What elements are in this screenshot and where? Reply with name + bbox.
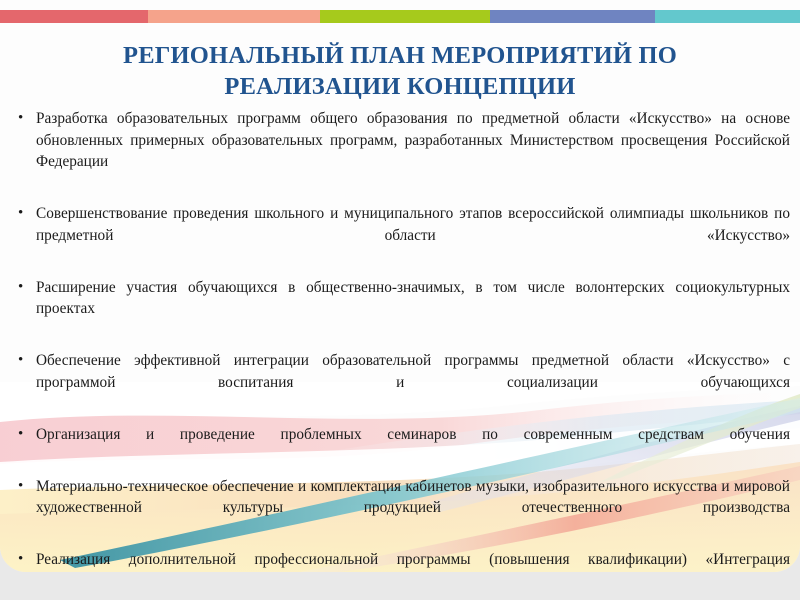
list-item: • Совершенствование проведения школьного… (14, 203, 790, 268)
list-item: • Расширение участия обучающихся в общес… (14, 277, 790, 342)
bullet-text: Материально-техническое обеспечение и ко… (36, 476, 790, 541)
bullet-text: Совершенствование проведения школьного и… (36, 203, 790, 268)
page-title: РЕГИОНАЛЬНЫЙ ПЛАН МЕРОПРИЯТИЙ ПО РЕАЛИЗА… (60, 40, 740, 103)
color-segment-red (0, 10, 148, 23)
color-segment-blue (490, 10, 655, 23)
list-item: • Материально-техническое обеспечение и … (14, 476, 790, 541)
color-segment-green (320, 10, 490, 23)
bullet-point-icon: • (14, 203, 36, 225)
slide-white-canvas: РЕГИОНАЛЬНЫЙ ПЛАН МЕРОПРИЯТИЙ ПО РЕАЛИЗА… (0, 0, 800, 572)
top-color-bar (0, 10, 800, 23)
list-item: • Обеспечение эффективной интеграции обр… (14, 350, 790, 415)
bullet-text: Расширение участия обучающихся в обществ… (36, 277, 790, 342)
list-item: • Разработка образовательных программ об… (14, 108, 790, 194)
slide-canvas-root: РЕГИОНАЛЬНЫЙ ПЛАН МЕРОПРИЯТИЙ ПО РЕАЛИЗА… (0, 0, 800, 600)
bullet-point-icon: • (14, 350, 36, 372)
bullet-point-icon: • (14, 108, 36, 130)
bullet-point-icon: • (14, 476, 36, 498)
color-segment-teal (655, 10, 800, 23)
list-item: • Реализация дополнительной профессионал… (14, 549, 790, 572)
bullet-point-icon: • (14, 424, 36, 446)
bullet-text: Организация и проведение проблемных семи… (36, 424, 790, 467)
bullet-text: Реализация дополнительной профессиональн… (36, 549, 790, 572)
list-item: • Организация и проведение проблемных се… (14, 424, 790, 467)
bullet-text: Обеспечение эффективной интеграции образ… (36, 350, 790, 415)
color-segment-salmon (148, 10, 320, 23)
bullet-point-icon: • (14, 549, 36, 571)
bullet-text: Разработка образовательных программ обще… (36, 108, 790, 194)
bullet-point-icon: • (14, 277, 36, 299)
bullet-list: • Разработка образовательных программ об… (14, 108, 790, 572)
